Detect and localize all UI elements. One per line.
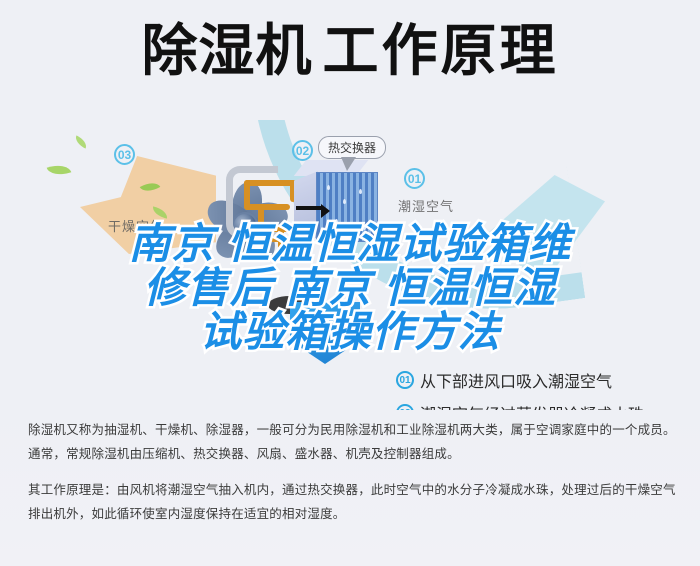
legend-list: 01 从下部进风口吸入潮湿空气 02 潮湿空气经过蒸发器冷凝成水珠 03 从上部… [396,368,696,410]
airflow-arrow-icon [296,206,322,210]
legend-text-01: 从下部进风口吸入潮湿空气 [420,368,612,392]
illustration-stage: 干燥空气 [0,120,700,410]
dry-air-label: 干燥空气 [108,216,164,235]
paragraph-2: 其工作原理是：由风机将潮湿空气抽入机内，通过热交换器，此时空气中的水分子冷凝成水… [28,478,676,526]
marker-02: 02 [292,140,313,161]
leaf-icon [73,135,89,148]
legend-badge-01: 01 [396,371,414,389]
heat-exchanger-icon [300,160,378,242]
paragraph-1: 除湿机又称为抽湿机、干燥机、除湿器，一般可分为民用除湿机和工业除湿机两大类，属于… [28,418,676,466]
leaf-icon [47,161,72,179]
list-item: 02 潮湿空气经过蒸发器冷凝成水珠 [396,401,696,410]
title-part-2: 工作原理 [323,19,559,82]
water-tank-label: 水箱 [305,312,331,329]
title-part-1: 除湿机 [142,19,313,82]
legend-text-02: 潮湿空气经过蒸发器冷凝成水珠 [420,401,644,410]
wet-air-label: 潮湿空气 [398,196,454,215]
heat-exchanger-callout: 热交换器 [318,136,386,159]
marker-01: 01 [404,168,425,189]
legend-badge-02: 02 [396,404,414,410]
page-root: 除湿机工作原理 干燥空气 [0,0,700,566]
list-item: 01 从下部进风口吸入潮湿空气 [396,368,696,392]
page-title: 除湿机工作原理 [0,22,700,81]
marker-03: 03 [114,144,135,165]
body-copy: 除湿机又称为抽湿机、干燥机、除湿器，一般可分为民用除湿机和工业除湿机两大类，属于… [28,418,676,526]
